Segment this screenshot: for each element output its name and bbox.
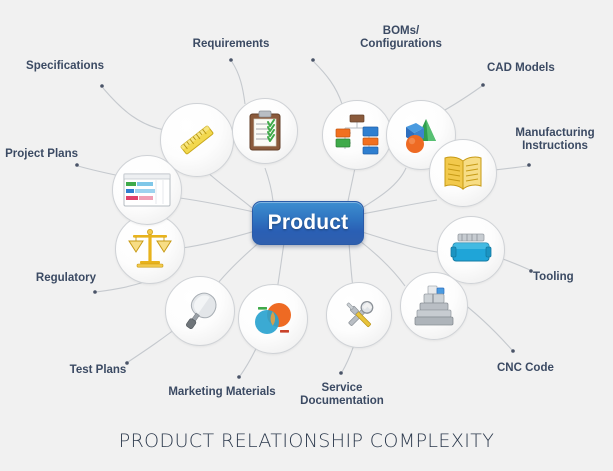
clipboard-checklist-icon xyxy=(245,109,285,153)
node-boms[interactable] xyxy=(322,100,392,170)
ruler-icon xyxy=(174,117,220,163)
trowel-tool-icon xyxy=(178,289,222,333)
node-marketing[interactable] xyxy=(238,284,308,354)
node-manufacturing[interactable] xyxy=(429,139,497,207)
node-requirements[interactable] xyxy=(232,98,298,164)
node-cnc-code[interactable] xyxy=(400,272,468,340)
product-relationship-diagram: Product xyxy=(0,0,613,471)
cnc-machine-icon xyxy=(413,284,455,328)
node-service-documentation[interactable] xyxy=(326,282,392,348)
node-test-plans[interactable] xyxy=(165,276,235,346)
label-tooling: Tooling xyxy=(533,271,611,284)
venn-circles-icon xyxy=(250,298,296,340)
label-manufacturing: Manufacturing Instructions xyxy=(497,127,613,153)
diagram-caption: PRODUCT RELATIONSHIP COMPLEXITY xyxy=(0,430,613,452)
label-test-plans: Test Plans xyxy=(58,364,138,377)
label-cad-models: CAD Models xyxy=(487,62,607,75)
label-service-doc: Service Documentation xyxy=(284,382,400,408)
label-cnc-code: CNC Code xyxy=(497,362,607,375)
wrench-screwdriver-icon xyxy=(338,294,380,336)
label-project-plans: Project Plans xyxy=(0,148,78,161)
label-boms: BOMs/ Configurations xyxy=(349,25,453,51)
label-specifications: Specifications xyxy=(0,60,104,73)
tooling-die-icon xyxy=(449,231,493,269)
bom-tree-icon xyxy=(333,113,381,157)
node-project-plans[interactable] xyxy=(112,155,182,225)
label-regulatory: Regulatory xyxy=(0,272,96,285)
label-requirements: Requirements xyxy=(166,38,296,51)
balance-scales-icon xyxy=(127,227,173,271)
label-marketing: Marketing Materials xyxy=(156,386,288,399)
center-product-node[interactable]: Product xyxy=(252,201,364,245)
center-product-label: Product xyxy=(268,211,349,235)
gantt-chart-icon xyxy=(123,172,171,208)
open-book-icon xyxy=(441,153,485,193)
